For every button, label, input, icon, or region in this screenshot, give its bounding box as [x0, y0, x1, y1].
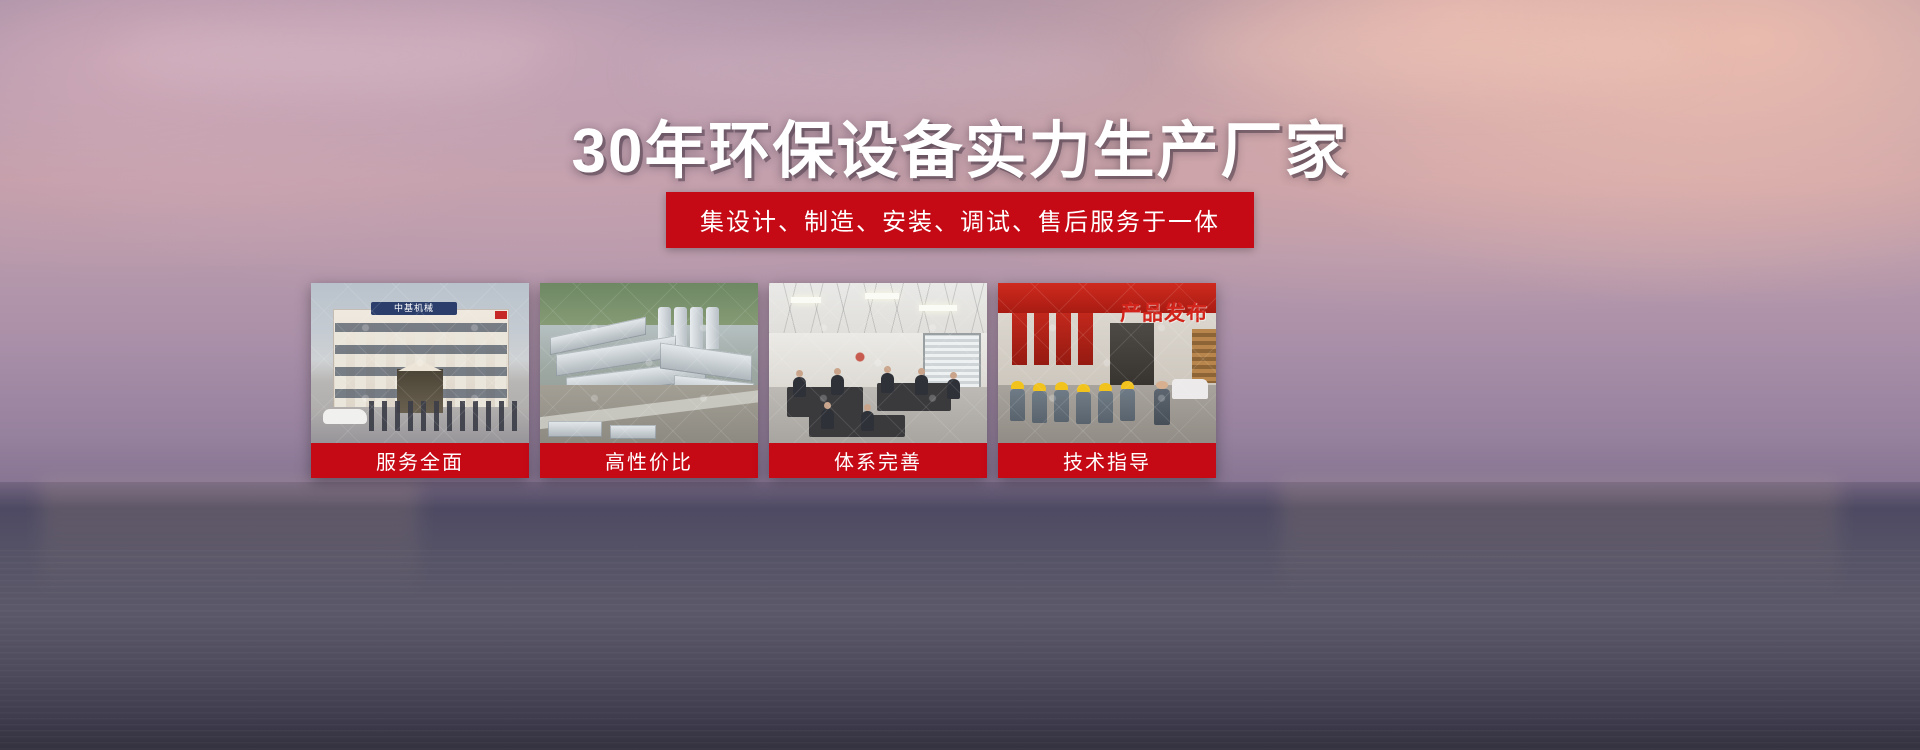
feature-card-list: 中基机械 服务全面 — [311, 283, 1216, 478]
cloud-3 — [640, 40, 1120, 100]
feature-card-label: 体系完善 — [769, 443, 987, 478]
wall-logo-icon — [843, 345, 877, 365]
cloud-2 — [1180, 10, 1700, 90]
company-office-building-photo: 中基机械 — [311, 283, 529, 443]
page-title: 30年环保设备实力生产厂家 — [0, 100, 1920, 190]
office-interior-staff-photo — [769, 283, 987, 443]
water-reflection-left — [40, 480, 420, 600]
cloud-1 — [120, 20, 540, 90]
subtitle-badge: 集设计、制造、安装、调试、售后服务于一体 — [666, 192, 1254, 248]
feature-card-service[interactable]: 中基机械 服务全面 — [311, 283, 529, 478]
building-sign-text: 中基机械 — [371, 302, 457, 315]
subtitle-container: 集设计、制造、安装、调试、售后服务于一体 — [0, 192, 1920, 248]
feature-card-label: 技术指导 — [998, 443, 1216, 478]
feature-card-label: 服务全面 — [311, 443, 529, 478]
feature-card-system[interactable]: 体系完善 — [769, 283, 987, 478]
hero-banner: 30年环保设备实力生产厂家 集设计、制造、安装、调试、售后服务于一体 中基机械 … — [0, 0, 1920, 750]
feature-card-value[interactable]: 高性价比 — [540, 283, 758, 478]
water-reflection-right — [1280, 480, 1840, 600]
feature-card-guidance[interactable]: 产品发布 技术指导 — [998, 283, 1216, 478]
industrial-plant-aerial-photo — [540, 283, 758, 443]
feature-card-label: 高性价比 — [540, 443, 758, 478]
workshop-workers-photo: 产品发布 — [998, 283, 1216, 443]
